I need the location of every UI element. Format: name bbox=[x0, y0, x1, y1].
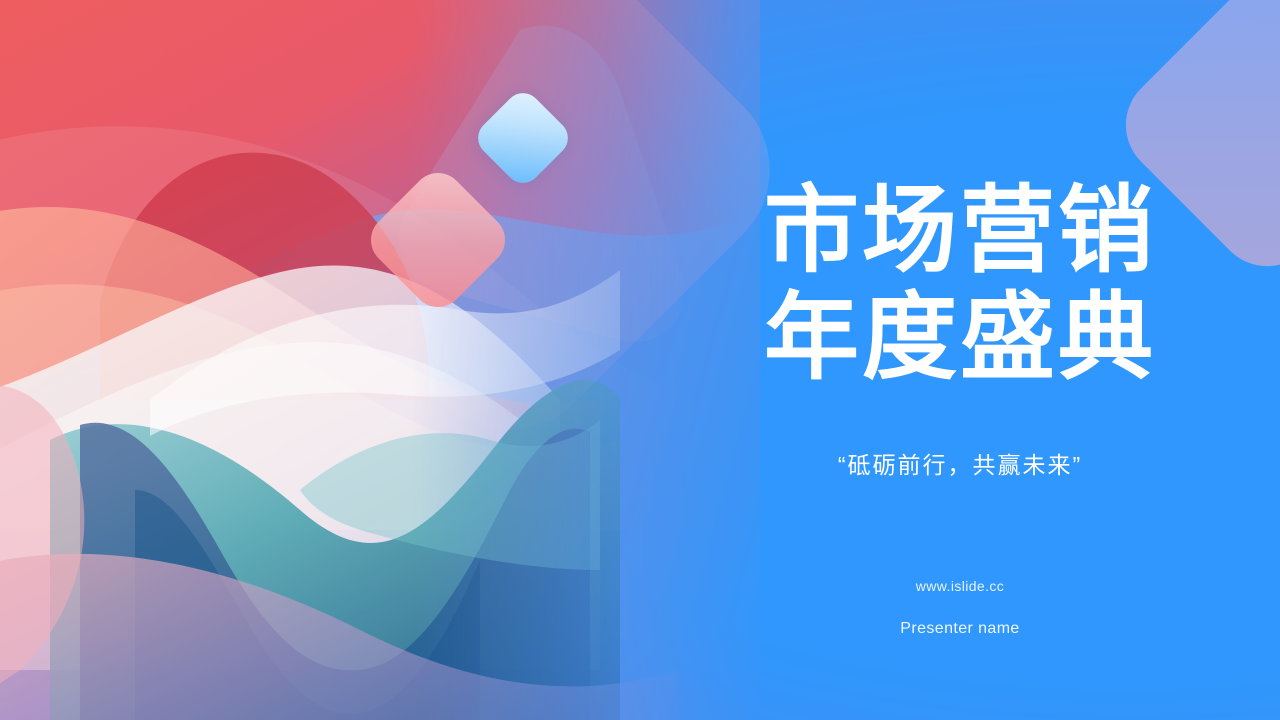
presenter-name-label: Presenter name bbox=[640, 620, 1280, 638]
presentation-slide: 市场营销 年度盛典 “砥砺前行，共赢未来” www.islide.cc Pres… bbox=[0, 0, 1280, 720]
page-title: 市场营销 年度盛典 bbox=[640, 178, 1280, 392]
wave-artwork-left bbox=[0, 0, 740, 720]
slide-subtitle: “砥砺前行，共赢未来” bbox=[640, 446, 1280, 480]
title-line-2: 年度盛典 bbox=[640, 285, 1280, 392]
slide-content: 市场营销 年度盛典 “砥砺前行，共赢未来” www.islide.cc Pres… bbox=[640, 0, 1280, 720]
website-label: www.islide.cc bbox=[640, 578, 1280, 594]
title-line-1: 市场营销 bbox=[640, 178, 1280, 285]
